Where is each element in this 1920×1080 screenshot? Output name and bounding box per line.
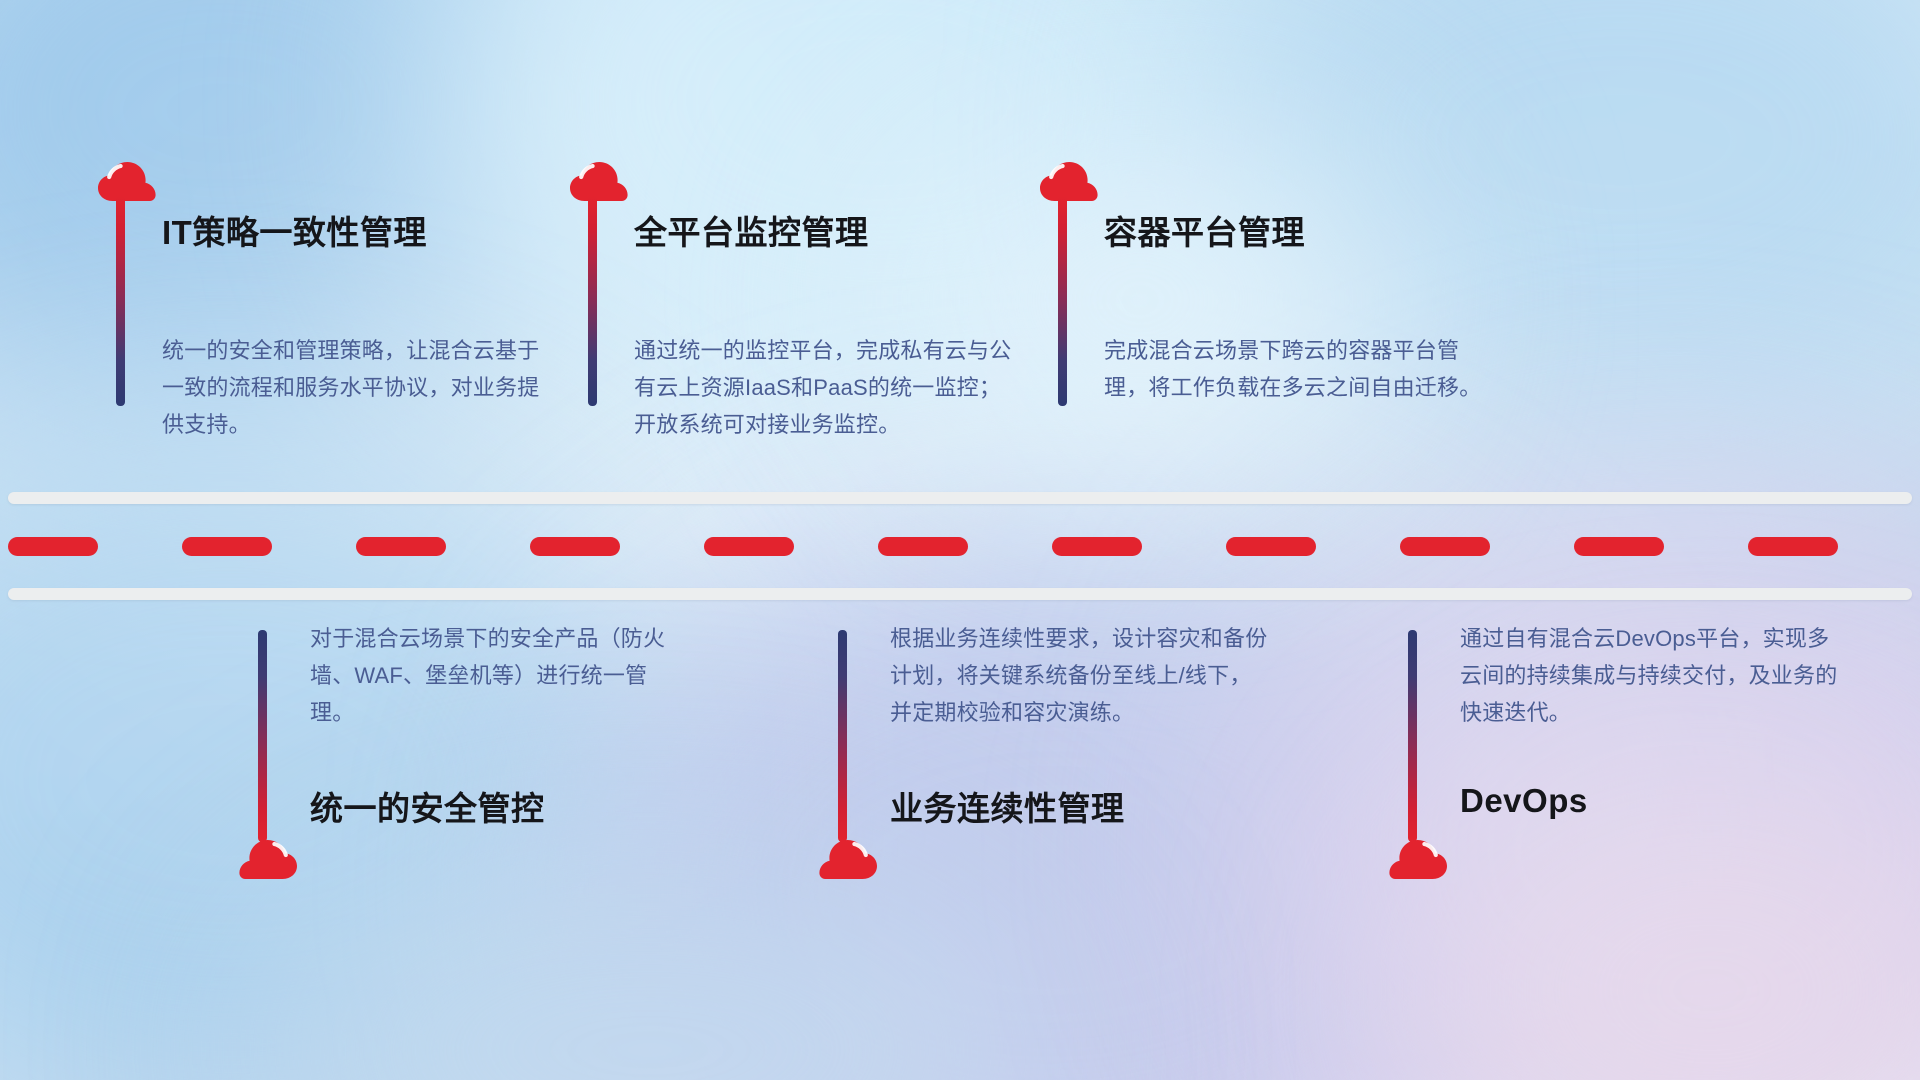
connector-line <box>258 630 267 842</box>
road-dash <box>878 537 968 556</box>
dashed-road-line <box>0 536 1920 556</box>
item-heading: 统一的安全管控 <box>310 782 545 830</box>
connector-line <box>116 196 125 406</box>
infographic-canvas: IT策略一致性管理 统一的安全和管理策略，让混合云基于一致的流程和服务水平协议，… <box>0 0 1920 1080</box>
divider-band <box>0 492 1920 604</box>
item-body: 完成混合云场景下跨云的容器平台管理，将工作负载在多云之间自由迁移。 <box>1104 332 1482 406</box>
item-heading: 全平台监控管理 <box>634 206 869 254</box>
cloud-pin <box>1387 838 1449 880</box>
cloud-pin-icon <box>1038 160 1100 202</box>
road-dash <box>356 537 446 556</box>
connector-line <box>1058 196 1067 406</box>
cloud-pin <box>1038 160 1100 202</box>
road-dash <box>8 537 98 556</box>
divider-rail-bottom <box>8 588 1912 600</box>
item-body: 通过统一的监控平台，完成私有云与公有云上资源IaaS和PaaS的统一监控；开放系… <box>634 332 1012 443</box>
item-heading: DevOps <box>1460 782 1588 820</box>
cloud-pin-icon <box>817 838 879 880</box>
item-heading: 容器平台管理 <box>1104 206 1305 254</box>
item-heading: 业务连续性管理 <box>890 782 1125 830</box>
item-body: 通过自有混合云DevOps平台，实现多云间的持续集成与持续交付，及业务的快速迭代… <box>1460 620 1838 731</box>
cloud-pin <box>96 160 158 202</box>
road-dash <box>182 537 272 556</box>
road-dash <box>704 537 794 556</box>
road-dash <box>1226 537 1316 556</box>
divider-rail-top <box>8 492 1912 504</box>
connector-line <box>588 196 597 406</box>
background-blob <box>240 840 1060 1080</box>
cloud-pin <box>817 838 879 880</box>
cloud-pin-icon <box>237 838 299 880</box>
cloud-pin-icon <box>1387 838 1449 880</box>
cloud-pin-icon <box>568 160 630 202</box>
item-body: 对于混合云场景下的安全产品（防火墙、WAF、堡垒机等）进行统一管理。 <box>310 620 688 731</box>
cloud-pin-icon <box>96 160 158 202</box>
connector-line <box>1408 630 1417 842</box>
road-dash <box>1574 537 1664 556</box>
road-dash <box>530 537 620 556</box>
road-dash <box>1052 537 1142 556</box>
connector-line <box>838 630 847 842</box>
item-body: 根据业务连续性要求，设计容灾和备份计划，将关键系统备份至线上/线下，并定期校验和… <box>890 620 1268 731</box>
item-heading: IT策略一致性管理 <box>162 206 427 254</box>
cloud-pin <box>237 838 299 880</box>
cloud-pin <box>568 160 630 202</box>
road-dash <box>1400 537 1490 556</box>
road-dash <box>1748 537 1838 556</box>
item-body: 统一的安全和管理策略，让混合云基于一致的流程和服务水平协议，对业务提供支持。 <box>162 332 540 443</box>
